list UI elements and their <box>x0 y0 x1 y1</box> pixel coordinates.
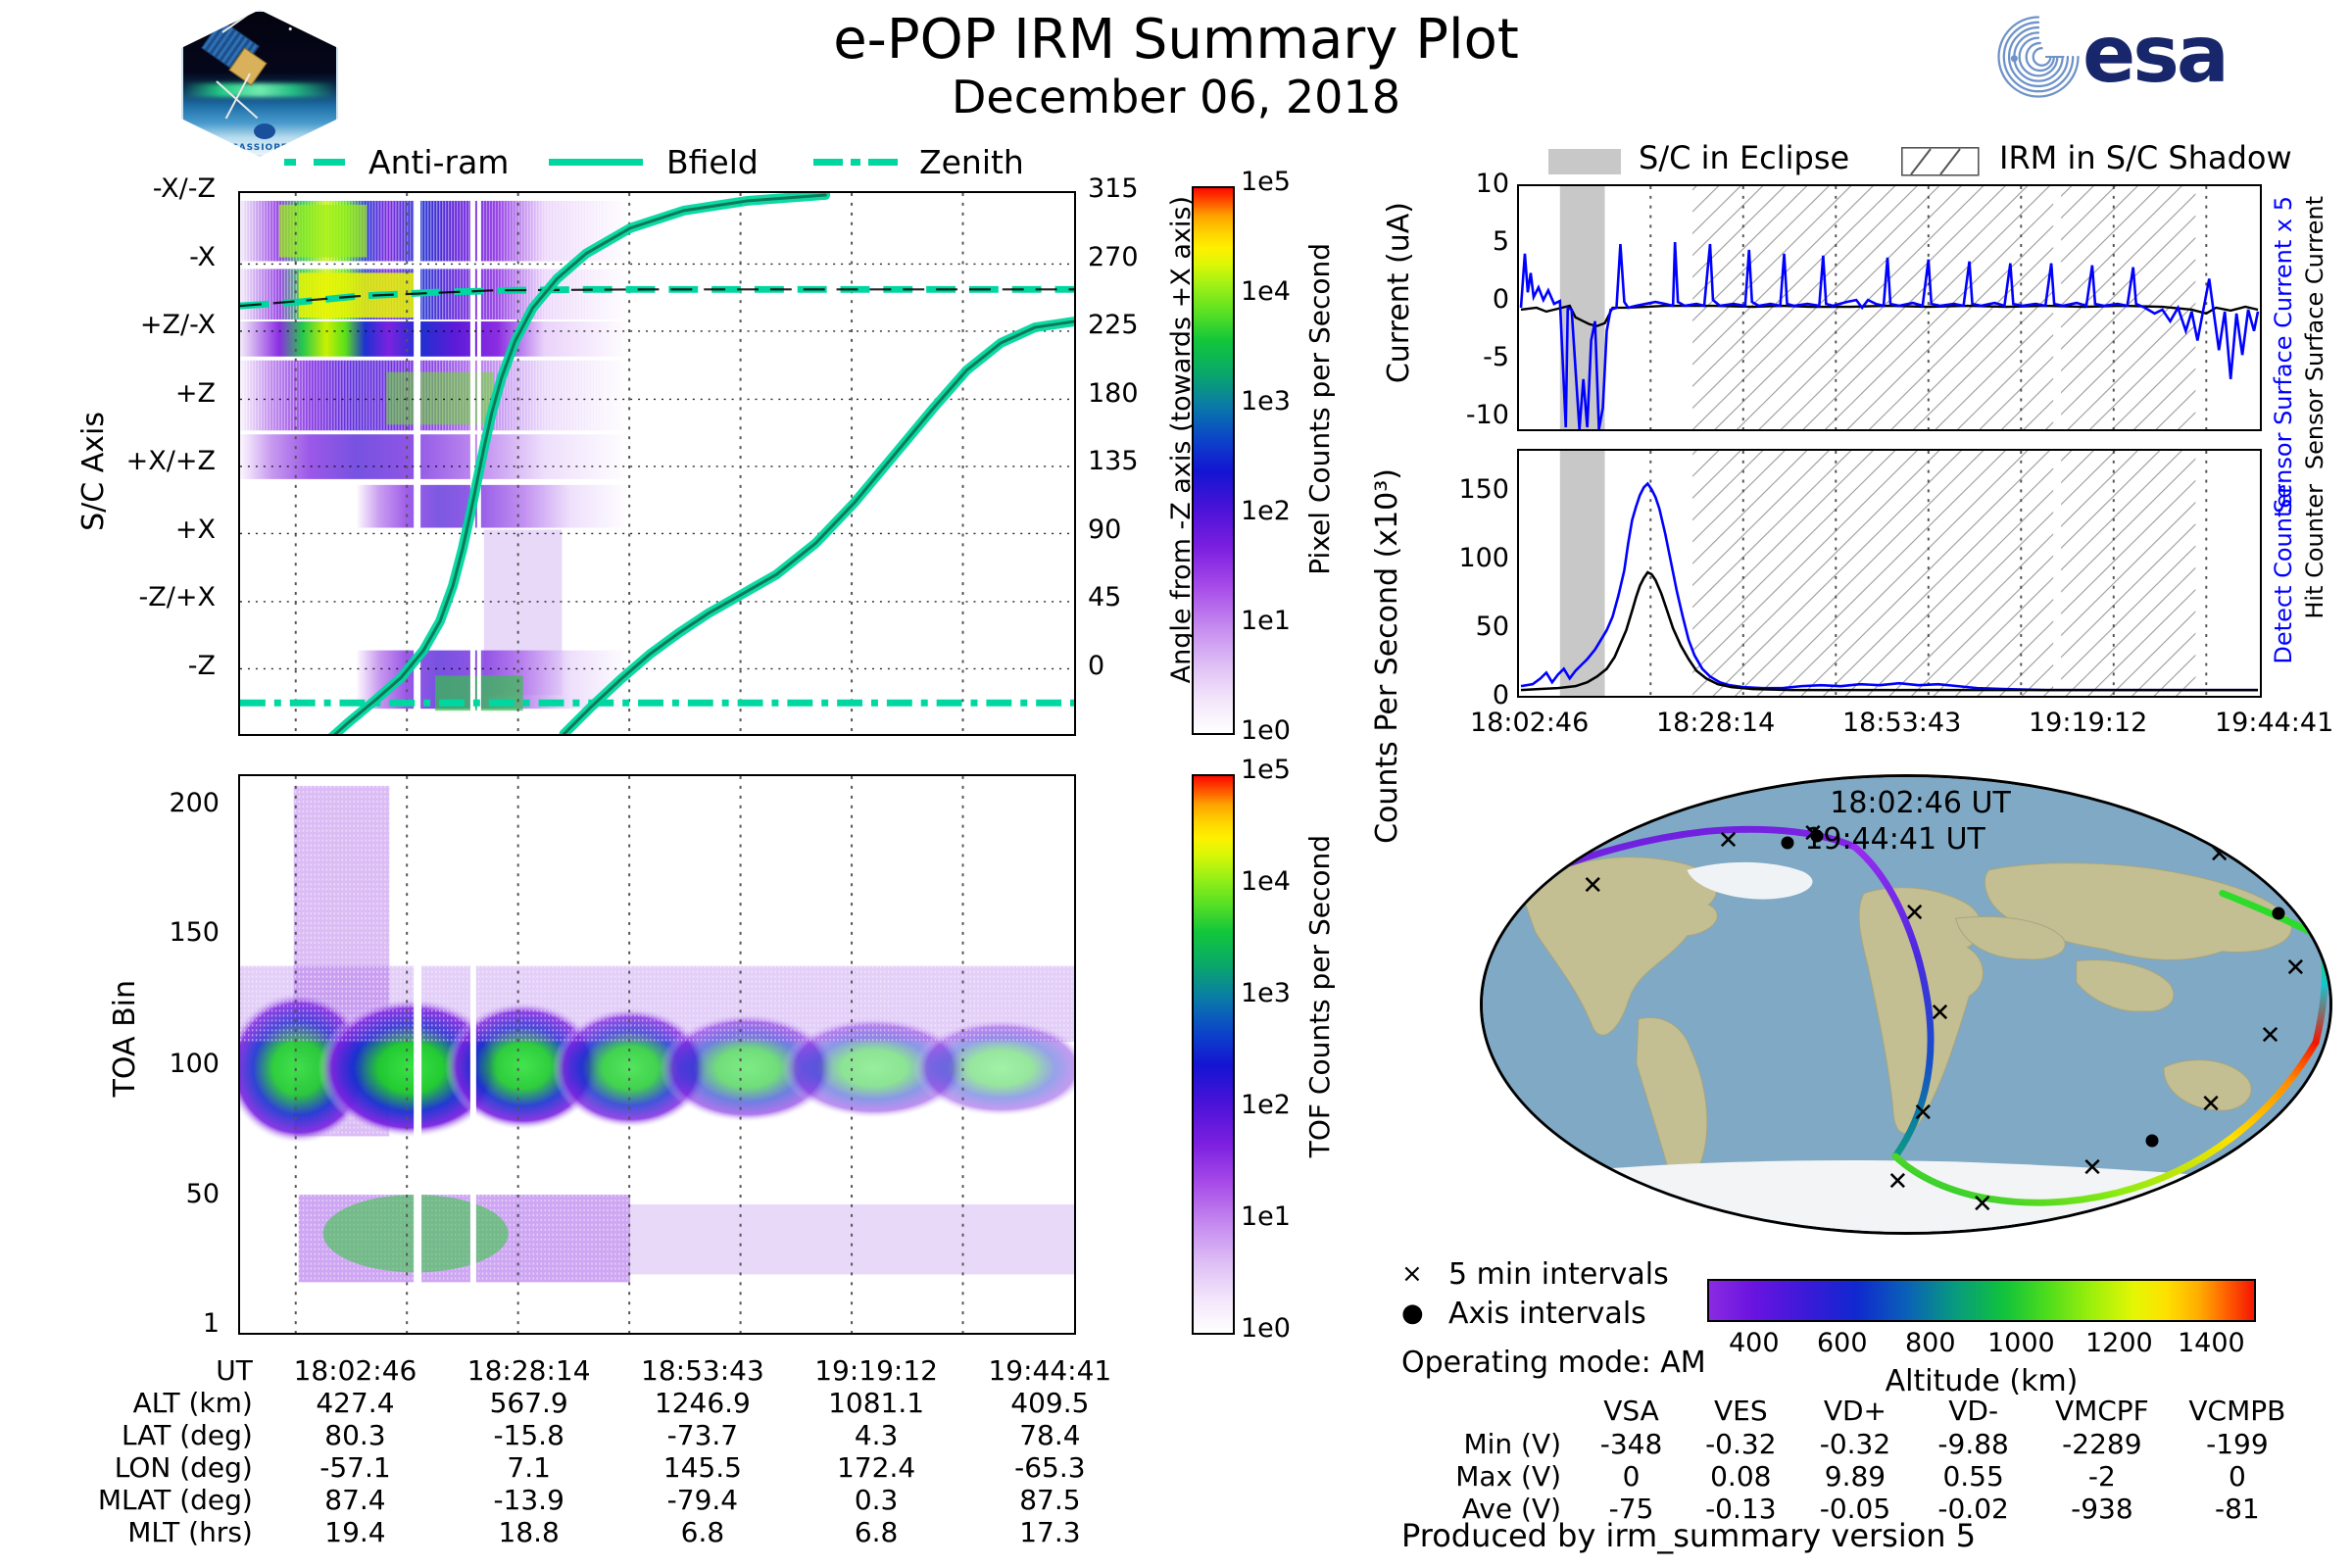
page-subtitle: December 06, 2018 <box>588 71 1764 123</box>
cb2-tick-1e0: 1e0 <box>1241 1313 1291 1344</box>
time-tick-2: 18:53:43 <box>1842 708 1961 738</box>
cur-tick-m5: -5 <box>1483 342 1509 372</box>
marker-axis <box>2145 1135 2158 1148</box>
shadow-hatch-swatch <box>1901 147 1980 176</box>
cps-tick-50: 50 <box>1476 612 1509 642</box>
marker-5min: ✕ <box>2082 1155 2103 1181</box>
cur-tick-10: 10 <box>1476 169 1509 199</box>
cb1-tick-1e2: 1e2 <box>1241 496 1291 526</box>
row-label-max: Max (V) <box>1401 1460 1577 1493</box>
cb2-tick-1e3: 1e3 <box>1241 978 1291 1008</box>
orientation-legend: Anti-ram Bfield Zenith <box>284 145 1029 188</box>
esa-wordmark: esa <box>2082 10 2227 100</box>
map-start-time: 18:02:46 UT <box>1830 786 2011 820</box>
marker-5min: ✕ <box>2285 873 2307 899</box>
counts-per-second-plot[interactable] <box>1517 449 2262 698</box>
shadow-legend: S/C in Eclipse IRM in S/C Shadow <box>1548 143 2332 182</box>
sc-axis-tick-7: -Z <box>188 651 216 681</box>
sc-axis-tick-0: -X/-Z <box>153 173 216 204</box>
table-row: MLT (hrs) 19.4 18.8 6.8 6.8 17.3 <box>59 1516 1137 1548</box>
counts-right-label-blue: Detect Counter <box>2270 484 2297 664</box>
table-row: Max (V) 0 0.08 9.89 0.55 -2 0 <box>1401 1460 2303 1493</box>
col-vsa: VSA <box>1577 1394 1686 1428</box>
toa-tick-50: 50 <box>186 1179 220 1209</box>
shadow-band-2 <box>2061 451 2195 696</box>
cb2-tick-1e2: 1e2 <box>1241 1090 1291 1120</box>
world-map[interactable]: ✕ ✕ ✕ ✕ ✕ ✕ ✕ ✕ ✕ ✕ ✕ ✕ ✕ ✕ 18:02:46 UT … <box>1480 774 2332 1235</box>
sc-axis-tick-4: +X/+Z <box>126 446 216 476</box>
voltage-table: VSA VES VD+ VD- VMCPF VCMPB Min (V) -348… <box>1401 1394 2303 1525</box>
bfield-solid-line <box>549 159 643 166</box>
toa-bin-tick-labels: 200 150 100 50 1 <box>137 774 225 1335</box>
cb1-tick-1e0: 1e0 <box>1241 715 1291 746</box>
marker-axis <box>1782 837 1794 850</box>
cps-tick-100: 100 <box>1458 543 1509 573</box>
sc-axis-tick-5: +X <box>175 514 216 545</box>
cb1-tick-1e4: 1e4 <box>1241 276 1291 307</box>
esa-logo: esa <box>1994 12 2249 102</box>
legend-label-axis: Axis intervals <box>1448 1297 1646 1331</box>
cur-tick-0: 0 <box>1493 284 1509 315</box>
cb1-tick-1e3: 1e3 <box>1241 386 1291 416</box>
current-ylabel: Current (uA) <box>1382 202 1416 383</box>
zenith-dash-1 <box>813 159 843 166</box>
col-vcmpb: VCMPB <box>2172 1394 2303 1428</box>
alt-tick-1400: 1400 <box>2178 1328 2245 1358</box>
esa-swirl-icon <box>1994 14 2082 100</box>
counts-right-label-black: Hit Counter <box>2301 484 2328 619</box>
cb1-tick-1e5: 1e5 <box>1241 167 1291 197</box>
toa-tick-100: 100 <box>169 1049 220 1079</box>
cb2-tick-1e1: 1e1 <box>1241 1201 1291 1232</box>
alt-tick-400: 400 <box>1729 1328 1780 1358</box>
table-row: UT 18:02:46 18:28:14 18:53:43 19:19:12 1… <box>59 1354 1137 1387</box>
angle-tick-135: 135 <box>1088 446 1139 476</box>
alt-tick-1000: 1000 <box>1987 1328 2055 1358</box>
table-row: LAT (deg) 80.3 -15.8 -73.7 4.3 78.4 <box>59 1419 1137 1451</box>
alt-tick-800: 800 <box>1905 1328 1956 1358</box>
legend-label-bfield: Bfield <box>666 143 759 181</box>
row-label-mlat: MLAT (deg) <box>59 1484 269 1516</box>
row-label-ut: UT <box>59 1354 269 1387</box>
tof-counts-colorbar <box>1192 774 1235 1335</box>
eclipse-swatch <box>1548 149 1621 174</box>
sc-axis-tick-1: -X <box>189 242 216 272</box>
current-right-label-blue: Sensor Surface Current x 5 <box>2270 196 2297 514</box>
col-ves: VES <box>1686 1394 1796 1428</box>
table-row: LON (deg) -57.1 7.1 145.5 172.4 -65.3 <box>59 1451 1137 1484</box>
shadow-band-1 <box>1692 451 2053 696</box>
sensor-current-plot[interactable] <box>1517 184 2262 431</box>
table-row: ALT (km) 427.4 567.9 1246.9 1081.1 409.5 <box>59 1387 1137 1419</box>
counts-ylabel: Counts Per Second (x10³) <box>1370 468 1404 844</box>
alt-tick-600: 600 <box>1817 1328 1868 1358</box>
cb2-tick-1e4: 1e4 <box>1241 866 1291 897</box>
right-time-axis: 18:02:46 18:28:14 18:53:43 19:19:12 19:4… <box>1470 708 2332 747</box>
table-header-row: VSA VES VD+ VD- VMCPF VCMPB <box>1401 1394 2303 1428</box>
cps-tick-0: 0 <box>1493 680 1509 710</box>
legend-label-shadow: IRM in S/C Shadow <box>1999 139 2292 176</box>
ephemeris-table: UT 18:02:46 18:28:14 18:53:43 19:19:12 1… <box>59 1354 1137 1548</box>
dot-symbol-icon: ● <box>1401 1298 1424 1328</box>
col-vdp: VD+ <box>1796 1394 1915 1428</box>
zenith-dot <box>851 159 860 166</box>
counts-tick-labels: 150 100 50 0 <box>1441 461 1509 706</box>
toa-tick-1: 1 <box>203 1308 220 1339</box>
sc-axis-tick-6: -Z/+X <box>139 582 216 612</box>
cur-tick-m10: -10 <box>1466 400 1509 430</box>
col-vmcpf: VMCPF <box>2033 1394 2172 1428</box>
marker-5min: ✕ <box>1904 901 1926 926</box>
cur-tick-5: 5 <box>1493 226 1509 257</box>
legend-label-eclipse: S/C in Eclipse <box>1639 139 1849 176</box>
sc-axis-tick-labels: -X/-Z -X +Z/-X +Z +X/+Z +X -Z/+X -Z <box>98 191 225 736</box>
angle-tick-270: 270 <box>1088 242 1139 272</box>
col-vdm: VD- <box>1914 1394 2033 1428</box>
current-tick-labels: 10 5 0 -5 -10 <box>1441 186 1509 431</box>
time-tick-0: 18:02:46 <box>1470 708 1589 738</box>
row-label-min: Min (V) <box>1401 1428 1577 1460</box>
angle-tick-90: 90 <box>1088 514 1121 545</box>
marker-5min: ✕ <box>1718 828 1739 854</box>
toa-bin-spectrogram-plot[interactable] <box>238 774 1076 1335</box>
antiram-dash-2 <box>314 159 345 166</box>
marker-5min: ✕ <box>2285 955 2307 981</box>
time-tick-3: 19:19:12 <box>2029 708 2147 738</box>
angle-tick-45: 45 <box>1088 582 1121 612</box>
pixel-counts-colorbar <box>1192 186 1235 735</box>
cb1-tick-1e1: 1e1 <box>1241 606 1291 636</box>
marker-5min: ✕ <box>1972 1192 1993 1217</box>
tof-counts-colorbar-label: TOF Counts per Second <box>1303 835 1336 1157</box>
row-label-alt: ALT (km) <box>59 1387 269 1419</box>
marker-5min: ✕ <box>2260 1023 2281 1049</box>
sc-axis-tick-3: +Z <box>175 378 216 409</box>
angle-tick-180: 180 <box>1088 378 1139 409</box>
marker-5min: ✕ <box>2209 842 2230 867</box>
operating-mode: Operating mode: AM <box>1401 1346 1706 1380</box>
toa-tick-150: 150 <box>169 917 220 948</box>
altitude-colorbar <box>1707 1279 2256 1322</box>
legend-label-zenith: Zenith <box>919 143 1024 181</box>
cps-tick-150: 150 <box>1458 474 1509 505</box>
legend-label-5min: 5 min intervals <box>1448 1257 1669 1292</box>
time-tick-4: 19:44:41 <box>2215 708 2333 738</box>
row-label-lat: LAT (deg) <box>59 1419 269 1451</box>
table-row: Min (V) -348 -0.32 -0.32 -9.88 -2289 -19… <box>1401 1428 2303 1460</box>
marker-5min: ✕ <box>1912 1101 1934 1126</box>
antiram-dash-1 <box>284 159 296 166</box>
angle-tick-225: 225 <box>1088 310 1139 340</box>
marker-5min: ✕ <box>1582 873 1603 899</box>
zenith-dash-2 <box>868 159 898 166</box>
angle-tick-315: 315 <box>1088 173 1139 204</box>
marker-5min: ✕ <box>1930 1001 1951 1026</box>
current-right-label-black: Sensor Surface Current <box>2301 196 2328 469</box>
sc-axis-spectrogram-plot[interactable] <box>238 191 1076 736</box>
eclipse-band <box>1560 451 1605 696</box>
table-row: MLAT (deg) 87.4 -13.9 -79.4 0.3 87.5 <box>59 1484 1137 1516</box>
altitude-colorbar-ticks: 400 600 800 1000 1200 1400 <box>1707 1328 2295 1363</box>
time-tick-1: 18:28:14 <box>1656 708 1775 738</box>
sc-axis-tick-2: +Z/-X <box>140 310 216 340</box>
marker-axis <box>2273 907 2285 920</box>
row-label-mlt: MLT (hrs) <box>59 1516 269 1548</box>
footer-produced-by: Produced by irm_summary version 5 <box>1401 1517 1976 1554</box>
marker-5min: ✕ <box>1886 1169 1908 1195</box>
pixel-counts-colorbar-label: Pixel Counts per Second <box>1303 243 1336 575</box>
cassiope-mission-patch: CASSIOPE <box>181 10 338 157</box>
legend-label-antiram: Anti-ram <box>368 143 509 181</box>
marker-5min: ✕ <box>2200 1092 2222 1117</box>
toa-tick-200: 200 <box>169 788 220 818</box>
x-symbol-icon: × <box>1401 1259 1423 1289</box>
cb2-tick-1e5: 1e5 <box>1241 755 1291 785</box>
map-end-time: 19:44:41 UT <box>1804 822 1985 857</box>
page-title: e-POP IRM Summary Plot <box>588 8 1764 72</box>
angle-tick-0: 0 <box>1088 651 1104 681</box>
row-label-lon: LON (deg) <box>59 1451 269 1484</box>
alt-tick-1200: 1200 <box>2085 1328 2153 1358</box>
